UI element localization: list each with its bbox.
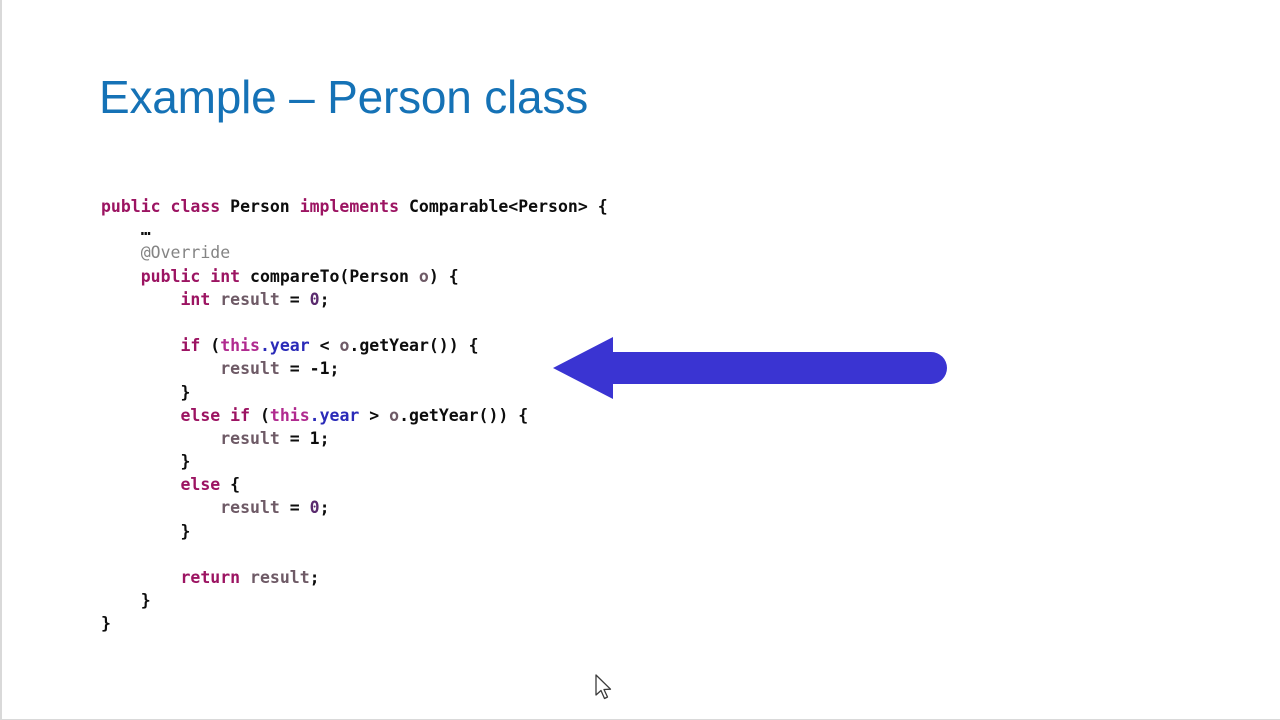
code-token-plain: = -1; (290, 359, 340, 378)
code-indent (101, 591, 141, 610)
code-token-plain: Comparable<Person> { (409, 197, 608, 216)
code-token-field: .year (310, 406, 360, 425)
code-line (101, 543, 608, 566)
code-token-var: result (220, 498, 290, 517)
code-token-plain: } (141, 591, 151, 610)
code-token-this: this (270, 406, 310, 425)
code-token-plain: } (180, 452, 190, 471)
code-line: result = -1; (101, 357, 608, 380)
code-token-plain: { (230, 475, 240, 494)
code-token-plain: = 1; (290, 429, 330, 448)
code-token-kw: int (180, 290, 220, 309)
code-block: public class Person implements Comparabl… (101, 195, 608, 636)
presentation-slide: Example – Person class public class Pers… (0, 0, 1280, 720)
code-token-var: result (220, 290, 290, 309)
code-line: } (101, 589, 608, 612)
code-indent (101, 568, 180, 587)
code-indent (101, 498, 220, 517)
code-token-plain: ( (210, 336, 220, 355)
code-token-plain: > (359, 406, 389, 425)
code-token-plain: = (290, 498, 310, 517)
code-line: } (101, 450, 608, 473)
code-line: else { (101, 473, 608, 496)
code-line: public int compareTo(Person o) { (101, 265, 608, 288)
code-line: } (101, 520, 608, 543)
code-token-ellip: … (141, 220, 151, 239)
code-line: if (this.year < o.getYear()) { (101, 334, 608, 357)
code-token-kw: else (180, 475, 230, 494)
code-token-kw: implements (300, 197, 409, 216)
arrow-glyph (553, 337, 947, 399)
code-indent (101, 267, 141, 286)
code-token-plain: .getYear()) { (349, 336, 478, 355)
code-indent (101, 359, 220, 378)
code-token-kw: return (180, 568, 250, 587)
code-token-var: o (419, 267, 429, 286)
code-indent (101, 406, 180, 425)
code-token-kw: if (180, 336, 210, 355)
code-line (101, 311, 608, 334)
code-token-plain: ; (310, 568, 320, 587)
code-indent (101, 452, 180, 471)
code-token-plain: ) { (429, 267, 459, 286)
code-token-var: o (339, 336, 349, 355)
code-token-plain: Person (230, 197, 300, 216)
code-token-kw: public int (141, 267, 250, 286)
code-indent (101, 475, 180, 494)
code-line: else if (this.year > o.getYear()) { (101, 404, 608, 427)
code-line: public class Person implements Comparabl… (101, 195, 608, 218)
code-indent (101, 522, 180, 541)
code-line: return result; (101, 566, 608, 589)
code-token-var: result (250, 568, 310, 587)
code-token-plain: < (310, 336, 340, 355)
code-token-anno: @Override (141, 243, 230, 262)
code-token-var: result (220, 429, 290, 448)
code-line: } (101, 381, 608, 404)
code-line: } (101, 612, 608, 635)
annotation-arrow-shape (551, 328, 953, 408)
code-token-this: this (220, 336, 260, 355)
code-token-plain: ; (320, 290, 330, 309)
code-line: … (101, 218, 608, 241)
code-token-numkw: 0 (310, 290, 320, 309)
code-indent (101, 383, 180, 402)
cursor-arrow-icon (594, 674, 616, 704)
code-token-var: o (389, 406, 399, 425)
code-token-var: result (220, 359, 290, 378)
code-indent (101, 336, 180, 355)
code-token-plain: } (180, 522, 190, 541)
code-line: result = 0; (101, 496, 608, 519)
code-token-plain: } (180, 383, 190, 402)
code-token-plain: ; (320, 498, 330, 517)
code-token-plain: } (101, 614, 111, 633)
code-line: @Override (101, 241, 608, 264)
code-token-field: .year (260, 336, 310, 355)
code-token-kw: else if (180, 406, 259, 425)
code-token-plain: compareTo(Person (250, 267, 419, 286)
mouse-cursor (594, 674, 616, 704)
code-indent (101, 220, 141, 239)
code-token-plain: ( (260, 406, 270, 425)
cursor-glyph (596, 675, 611, 699)
annotation-arrow (551, 328, 953, 408)
code-line: int result = 0; (101, 288, 608, 311)
code-token-kw: public class (101, 197, 230, 216)
code-indent (101, 429, 220, 448)
code-token-plain: .getYear()) { (399, 406, 528, 425)
code-indent (101, 243, 141, 262)
page-title: Example – Person class (99, 70, 588, 124)
code-token-numkw: 0 (310, 498, 320, 517)
code-indent (101, 290, 180, 309)
code-line: result = 1; (101, 427, 608, 450)
code-token-plain: = (290, 290, 310, 309)
